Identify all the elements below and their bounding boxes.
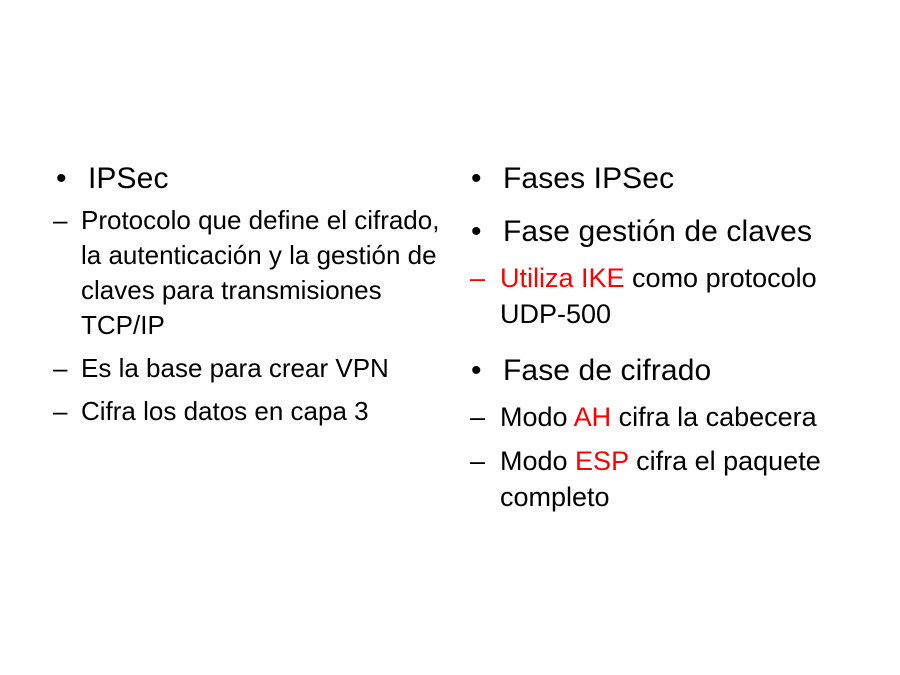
spacer bbox=[45, 386, 445, 394]
dash-icon: – bbox=[470, 260, 485, 296]
spacer bbox=[460, 332, 870, 352]
bullet-item-label: IPSec bbox=[88, 162, 169, 195]
sub-item-utiliza-ike: – Utiliza IKE como protocolo UDP-500 bbox=[460, 260, 870, 332]
sub-item-vpn: – Es la base para crear VPN bbox=[45, 351, 445, 386]
sub-item-capa3: – Cifra los datos en capa 3 bbox=[45, 394, 445, 429]
content-column-left: • IPSec – Protocolo que define el cifrad… bbox=[45, 160, 445, 429]
bullet-dot-icon: • bbox=[471, 160, 491, 197]
highlight-ah: AH bbox=[574, 402, 612, 432]
sub-item-protocolo: – Protocolo que define el cifrado, la au… bbox=[45, 203, 445, 343]
spacer bbox=[45, 343, 445, 351]
sub-item-label: Modo AH cifra la cabecera bbox=[500, 402, 817, 432]
highlight-ike: Utiliza IKE bbox=[500, 263, 625, 293]
sub-item-label-prefix: Modo bbox=[500, 446, 575, 476]
dash-icon: – bbox=[470, 443, 485, 479]
bullet-dot-icon: • bbox=[471, 213, 491, 250]
bullet-dot-icon: • bbox=[471, 352, 491, 389]
content-column-right: • Fases IPSec • Fase gestión de claves –… bbox=[460, 160, 870, 515]
spacer bbox=[460, 391, 870, 399]
spacer bbox=[460, 252, 870, 260]
sub-item-modo-ah: – Modo AH cifra la cabecera bbox=[460, 399, 870, 435]
bullet-item-label: Fase gestión de claves bbox=[503, 215, 812, 248]
bullet-item-fase-gestion-claves: • Fase gestión de claves bbox=[460, 213, 870, 250]
slide-canvas: • IPSec – Protocolo que define el cifrad… bbox=[0, 0, 900, 675]
sub-item-label: Utiliza IKE como protocolo UDP-500 bbox=[500, 263, 817, 329]
dash-icon: – bbox=[53, 351, 67, 386]
sub-item-label-prefix: Modo bbox=[500, 402, 574, 432]
bullet-item-label: Fase de cifrado bbox=[503, 354, 711, 387]
spacer bbox=[460, 435, 870, 443]
dash-icon: – bbox=[470, 399, 485, 435]
bullet-dot-icon: • bbox=[56, 160, 76, 197]
sub-item-label-rest: cifra la cabecera bbox=[611, 402, 817, 432]
sub-item-label: Es la base para crear VPN bbox=[81, 353, 389, 383]
sub-item-label: Modo ESP cifra el paquete completo bbox=[500, 446, 821, 512]
sub-item-label: Cifra los datos en capa 3 bbox=[81, 396, 369, 426]
dash-icon: – bbox=[53, 394, 67, 429]
highlight-esp: ESP bbox=[575, 446, 629, 476]
dash-icon: – bbox=[53, 203, 67, 238]
sub-item-modo-esp: – Modo ESP cifra el paquete completo bbox=[460, 443, 870, 515]
bullet-item-label: Fases IPSec bbox=[503, 162, 674, 195]
bullet-item-ipsec: • IPSec bbox=[45, 160, 445, 197]
spacer bbox=[460, 199, 870, 213]
left-sub-list: – Protocolo que define el cifrado, la au… bbox=[45, 203, 445, 429]
bullet-item-fases-ipsec: • Fases IPSec bbox=[460, 160, 870, 197]
sub-item-label: Protocolo que define el cifrado, la aute… bbox=[81, 205, 439, 340]
bullet-item-fase-de-cifrado: • Fase de cifrado bbox=[460, 352, 870, 389]
